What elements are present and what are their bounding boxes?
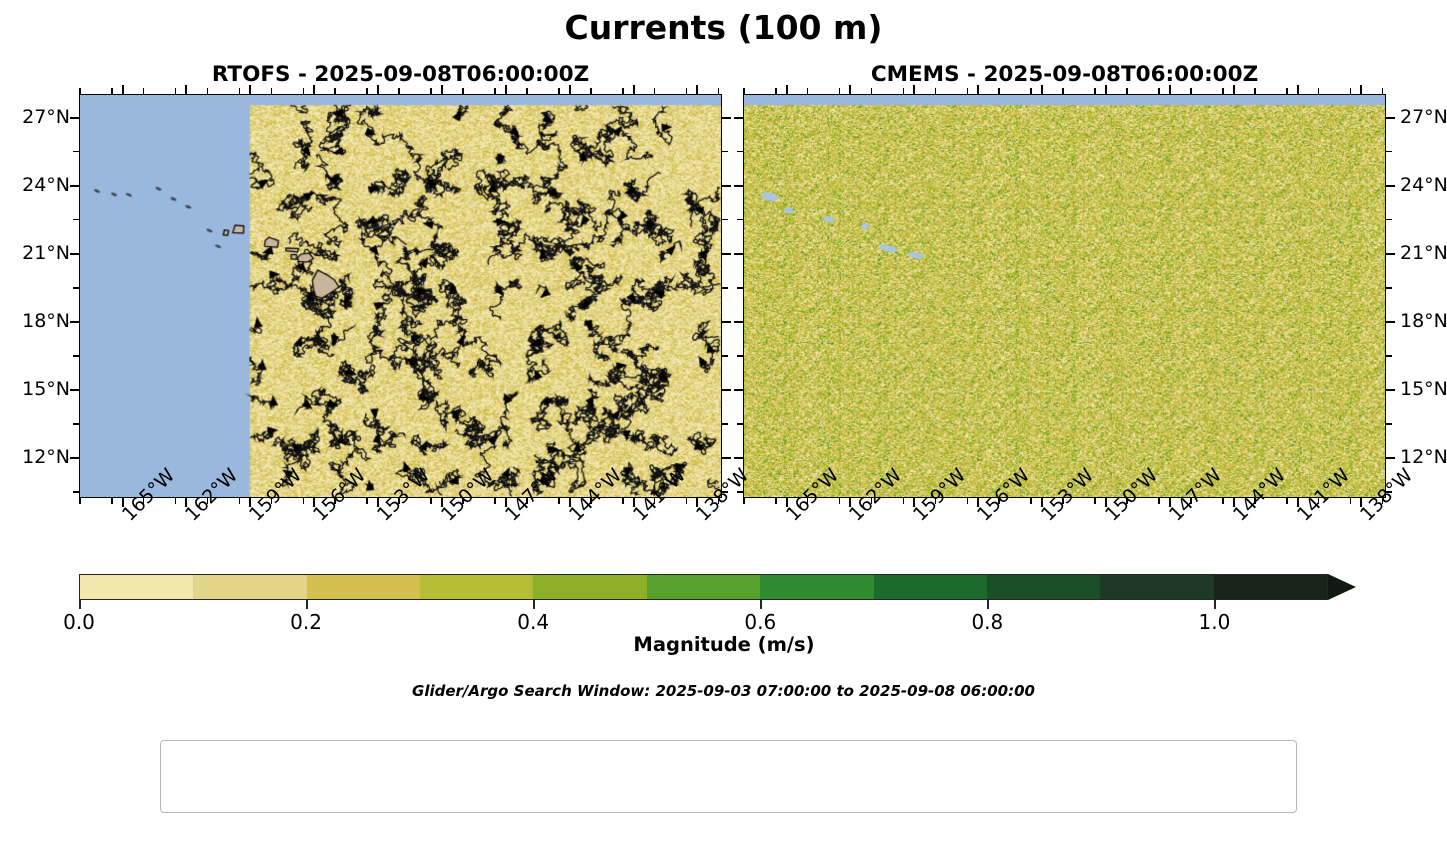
axis-tick bbox=[722, 389, 731, 391]
colorbar-tick-label: 0.6 bbox=[744, 610, 776, 634]
axis-tick bbox=[526, 88, 528, 94]
colorbar-tick bbox=[760, 600, 762, 609]
y-tick-label: 12°N bbox=[8, 446, 70, 468]
axis-tick bbox=[313, 85, 315, 94]
axis-tick bbox=[722, 287, 728, 289]
axis-tick bbox=[967, 88, 969, 94]
axis-tick bbox=[734, 321, 743, 323]
axis-tick bbox=[786, 85, 788, 94]
y-tick-label: 18°N bbox=[8, 310, 70, 332]
axis-tick bbox=[722, 491, 728, 493]
axis-tick bbox=[79, 498, 81, 504]
colorbar-tick-label: 0.0 bbox=[63, 610, 95, 634]
axis-tick bbox=[1126, 88, 1128, 94]
axis-tick bbox=[1386, 117, 1395, 119]
axis-tick bbox=[734, 117, 743, 119]
y-tick-label: 15°N bbox=[1400, 378, 1447, 400]
axis-tick bbox=[1386, 321, 1395, 323]
axis-tick bbox=[239, 498, 241, 504]
axis-tick bbox=[1030, 498, 1032, 504]
axis-tick bbox=[590, 88, 592, 94]
axis-tick bbox=[743, 88, 745, 94]
axis-tick bbox=[807, 88, 809, 94]
axis-tick bbox=[175, 498, 177, 504]
axis-tick bbox=[622, 88, 624, 94]
axis-tick bbox=[239, 88, 241, 94]
axis-tick bbox=[122, 85, 124, 94]
axis-tick bbox=[622, 498, 624, 504]
colorbar-extend-arrow bbox=[1328, 574, 1356, 600]
axis-tick bbox=[1222, 498, 1224, 504]
y-tick-label: 24°N bbox=[8, 174, 70, 196]
colorbar-band-9 bbox=[1100, 575, 1213, 599]
colorbar-band-4 bbox=[533, 575, 646, 599]
axis-tick bbox=[1233, 85, 1235, 94]
colorbar[interactable]: 0.00.20.40.60.81.0 bbox=[79, 574, 1369, 600]
axis-tick bbox=[430, 498, 432, 504]
y-tick-label: 21°N bbox=[8, 242, 70, 264]
axis-tick bbox=[207, 88, 209, 94]
y-tick-label: 24°N bbox=[1400, 174, 1447, 196]
axis-tick bbox=[839, 498, 841, 504]
axis-tick bbox=[722, 151, 728, 153]
axis-tick bbox=[722, 253, 731, 255]
axis-tick bbox=[1350, 498, 1352, 504]
axis-tick bbox=[696, 85, 698, 94]
colorbar-tick-label: 0.4 bbox=[517, 610, 549, 634]
colorbar-band-1 bbox=[193, 575, 306, 599]
axis-tick bbox=[737, 355, 743, 357]
map-panel-cmems[interactable] bbox=[743, 94, 1386, 498]
axis-tick bbox=[775, 88, 777, 94]
axis-tick bbox=[111, 88, 113, 94]
axis-tick bbox=[271, 88, 273, 94]
axis-tick bbox=[737, 219, 743, 221]
axis-tick bbox=[1030, 88, 1032, 94]
axis-tick bbox=[79, 88, 81, 94]
axis-tick bbox=[1386, 491, 1392, 493]
search-window-caption: Glider/Argo Search Window: 2025-09-03 07… bbox=[0, 682, 1447, 700]
axis-tick bbox=[722, 457, 731, 459]
axis-tick bbox=[430, 88, 432, 94]
axis-tick bbox=[505, 85, 507, 94]
colorbar-band-7 bbox=[874, 575, 987, 599]
axis-tick bbox=[1386, 355, 1392, 357]
axis-tick bbox=[775, 498, 777, 504]
axis-tick bbox=[1386, 253, 1395, 255]
axis-tick bbox=[366, 498, 368, 504]
axis-tick bbox=[903, 88, 905, 94]
axis-tick bbox=[722, 423, 728, 425]
axis-tick bbox=[70, 253, 79, 255]
map-panel-rtofs[interactable] bbox=[79, 94, 722, 498]
axis-tick bbox=[1094, 88, 1096, 94]
axis-tick bbox=[1254, 88, 1256, 94]
axis-tick bbox=[737, 491, 743, 493]
marker-overlay-rtofs bbox=[80, 95, 721, 497]
axis-tick bbox=[734, 253, 743, 255]
colorbar-band-2 bbox=[307, 575, 420, 599]
y-tick-label: 12°N bbox=[1400, 446, 1447, 468]
colorbar-tick bbox=[987, 600, 989, 609]
axis-tick bbox=[871, 88, 873, 94]
axis-tick bbox=[839, 88, 841, 94]
axis-tick bbox=[558, 498, 560, 504]
axis-tick bbox=[1158, 88, 1160, 94]
axis-tick bbox=[722, 117, 731, 119]
axis-tick bbox=[977, 85, 979, 94]
axis-tick bbox=[249, 85, 251, 94]
axis-tick bbox=[70, 389, 79, 391]
axis-tick bbox=[734, 185, 743, 187]
colorbar-band-8 bbox=[987, 575, 1100, 599]
axis-tick bbox=[722, 355, 728, 357]
axis-tick bbox=[1158, 498, 1160, 504]
axis-tick bbox=[1386, 389, 1395, 391]
axis-tick bbox=[734, 389, 743, 391]
axis-tick bbox=[967, 498, 969, 504]
colorbar-band-3 bbox=[420, 575, 533, 599]
axis-tick bbox=[737, 423, 743, 425]
colorbar-axis-label: Magnitude (m/s) bbox=[79, 633, 1369, 656]
axis-tick bbox=[1386, 423, 1392, 425]
axis-tick bbox=[1386, 185, 1395, 187]
axis-tick bbox=[734, 457, 743, 459]
axis-tick bbox=[494, 88, 496, 94]
axis-tick bbox=[111, 498, 113, 504]
colorbar-band-5 bbox=[647, 575, 760, 599]
panel-title-rtofs: RTOFS - 2025-09-08T06:00:00Z bbox=[79, 62, 722, 87]
axis-tick bbox=[998, 88, 1000, 94]
axis-tick bbox=[1190, 88, 1192, 94]
y-tick-label: 18°N bbox=[1400, 310, 1447, 332]
panel-title-cmems: CMEMS - 2025-09-08T06:00:00Z bbox=[743, 62, 1386, 87]
axis-tick bbox=[70, 117, 79, 119]
axis-tick bbox=[73, 219, 79, 221]
y-tick-label: 27°N bbox=[8, 106, 70, 128]
axis-tick bbox=[1105, 85, 1107, 94]
axis-tick bbox=[1386, 287, 1392, 289]
legend[interactable] bbox=[160, 740, 1297, 813]
axis-tick bbox=[1386, 151, 1392, 153]
axis-tick bbox=[1386, 457, 1395, 459]
axis-tick bbox=[73, 491, 79, 493]
axis-tick bbox=[366, 88, 368, 94]
axis-tick bbox=[1222, 88, 1224, 94]
axis-tick bbox=[494, 498, 496, 504]
axis-tick bbox=[1350, 88, 1352, 94]
axis-tick bbox=[1094, 498, 1096, 504]
axis-tick bbox=[377, 85, 379, 94]
colorbar-tick-label: 0.8 bbox=[971, 610, 1003, 634]
axis-tick bbox=[1360, 85, 1362, 94]
axis-tick bbox=[1062, 88, 1064, 94]
axis-tick bbox=[913, 85, 915, 94]
axis-tick bbox=[1318, 88, 1320, 94]
y-tick-label: 15°N bbox=[8, 378, 70, 400]
page-title: Currents (100 m) bbox=[0, 8, 1447, 47]
colorbar-tick-label: 1.0 bbox=[1199, 610, 1231, 634]
axis-tick bbox=[185, 85, 187, 94]
axis-tick bbox=[1169, 85, 1171, 94]
axis-tick bbox=[1041, 85, 1043, 94]
axis-tick bbox=[722, 185, 731, 187]
axis-tick bbox=[303, 498, 305, 504]
axis-tick bbox=[569, 85, 571, 94]
axis-tick bbox=[73, 355, 79, 357]
axis-tick bbox=[1382, 88, 1384, 94]
axis-tick bbox=[743, 498, 745, 504]
axis-tick bbox=[686, 498, 688, 504]
colorbar-band-10 bbox=[1214, 575, 1327, 599]
colorbar-band-0 bbox=[80, 575, 193, 599]
axis-tick bbox=[654, 88, 656, 94]
axis-tick bbox=[558, 88, 560, 94]
axis-tick bbox=[73, 151, 79, 153]
colorbar-tick bbox=[306, 600, 308, 609]
marker-overlay-cmems bbox=[744, 95, 1385, 497]
y-tick-label: 21°N bbox=[1400, 242, 1447, 264]
axis-tick bbox=[73, 423, 79, 425]
axis-tick bbox=[70, 185, 79, 187]
axis-tick bbox=[1286, 498, 1288, 504]
colorbar-tick bbox=[1214, 600, 1216, 609]
colorbar-tick bbox=[79, 600, 81, 609]
axis-tick bbox=[686, 88, 688, 94]
axis-tick bbox=[398, 88, 400, 94]
axis-tick bbox=[722, 321, 731, 323]
axis-tick bbox=[70, 321, 79, 323]
axis-tick bbox=[718, 88, 720, 94]
axis-tick bbox=[722, 219, 728, 221]
axis-tick bbox=[462, 88, 464, 94]
axis-tick bbox=[935, 88, 937, 94]
axis-tick bbox=[143, 88, 145, 94]
axis-tick bbox=[737, 151, 743, 153]
colorbar-band-6 bbox=[760, 575, 873, 599]
figure-canvas: Currents (100 m) RTOFS - 2025-09-08T06:0… bbox=[0, 0, 1447, 863]
axis-tick bbox=[70, 457, 79, 459]
axis-tick bbox=[633, 85, 635, 94]
axis-tick bbox=[849, 85, 851, 94]
axis-tick bbox=[1297, 85, 1299, 94]
colorbar-tick-label: 0.2 bbox=[290, 610, 322, 634]
axis-tick bbox=[903, 498, 905, 504]
axis-tick bbox=[1386, 219, 1392, 221]
axis-tick bbox=[334, 88, 336, 94]
axis-tick bbox=[1286, 88, 1288, 94]
axis-tick bbox=[73, 287, 79, 289]
axis-tick bbox=[737, 287, 743, 289]
y-tick-label: 27°N bbox=[1400, 106, 1447, 128]
axis-tick bbox=[441, 85, 443, 94]
axis-tick bbox=[303, 88, 305, 94]
colorbar-tick bbox=[533, 600, 535, 609]
axis-tick bbox=[175, 88, 177, 94]
colorbar-gradient bbox=[79, 574, 1328, 600]
